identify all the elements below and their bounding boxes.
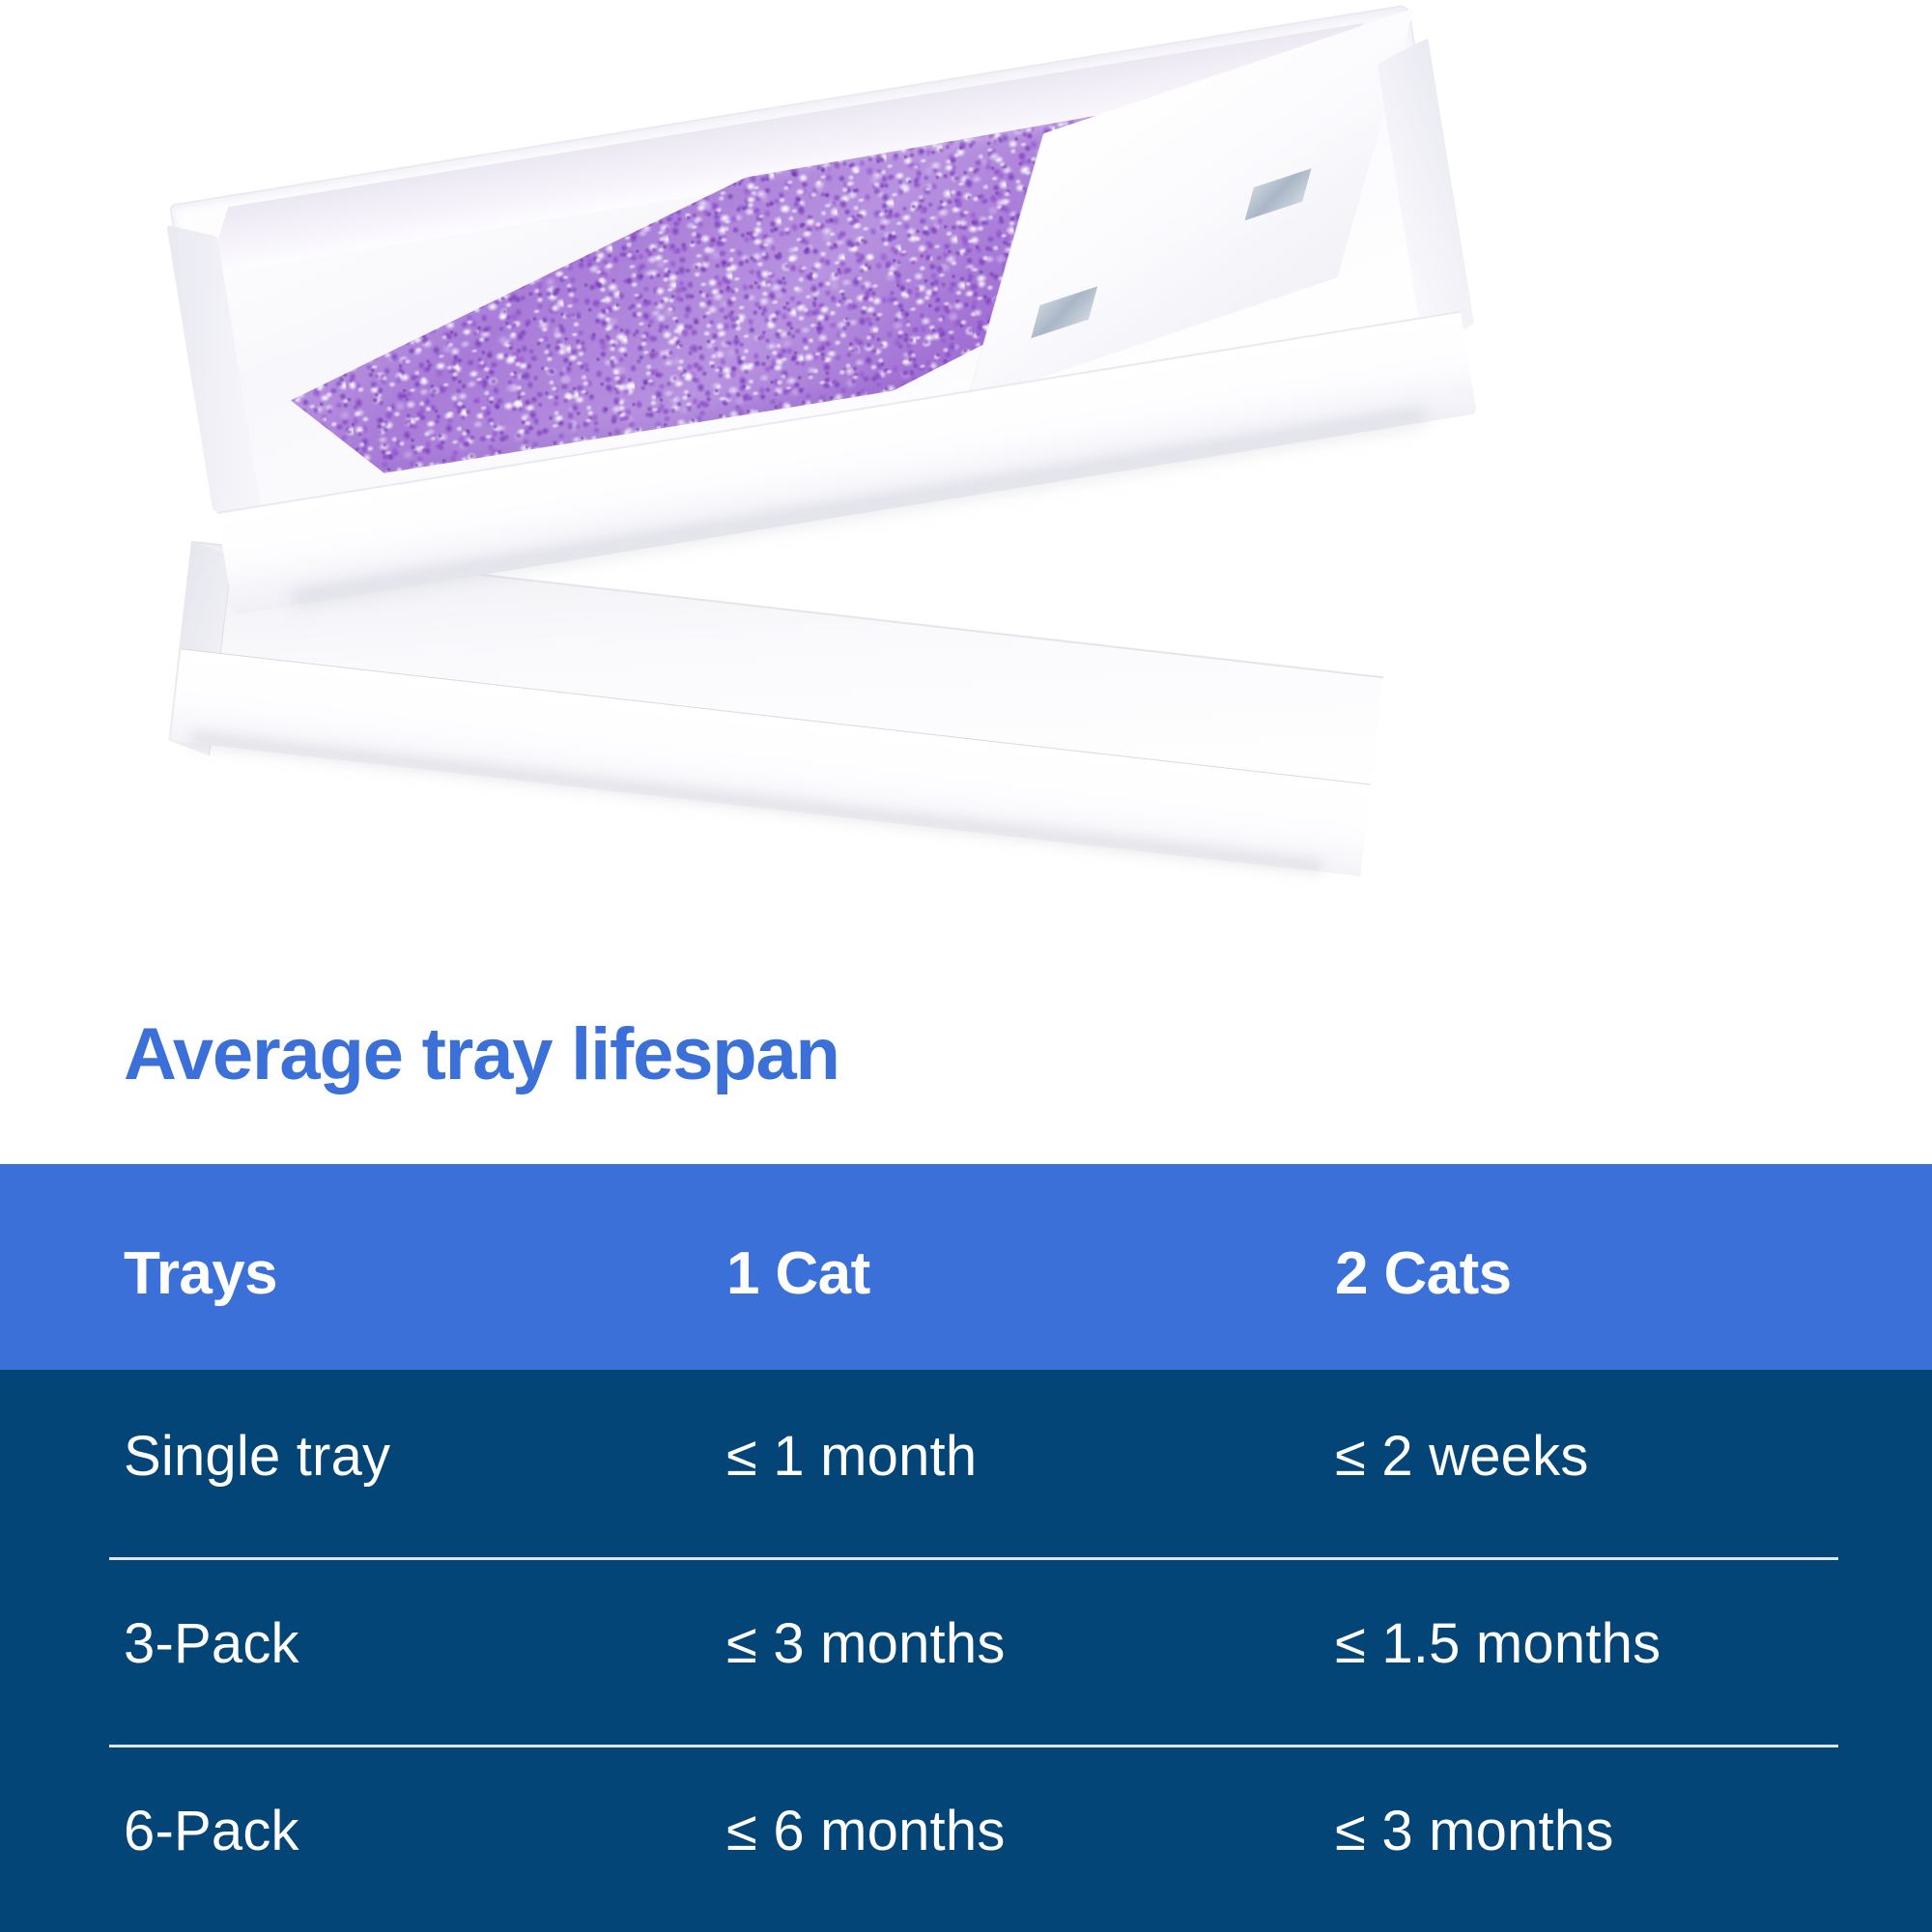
- cell-one-cat: ≤ 6 months: [726, 1799, 1006, 1863]
- row-divider: [109, 1557, 1838, 1560]
- column-header-1-cat: 1 Cat: [726, 1239, 870, 1308]
- table-body: Single tray ≤ 1 month ≤ 2 weeks 3-Pack ≤…: [0, 1370, 1932, 1932]
- cell-one-cat: ≤ 1 month: [726, 1424, 977, 1489]
- cell-two-cats: ≤ 3 months: [1335, 1799, 1614, 1863]
- table-row: Single tray ≤ 1 month ≤ 2 weeks: [0, 1370, 1932, 1557]
- table-header-row: Trays 1 Cat 2 Cats: [0, 1164, 1932, 1370]
- cell-tray-name: 3-Pack: [124, 1611, 299, 1676]
- table-row: 6-Pack ≤ 6 months ≤ 3 months: [0, 1745, 1932, 1932]
- column-header-trays: Trays: [124, 1239, 277, 1308]
- page-title: Average tray lifespan: [124, 1012, 839, 1096]
- top-filled-tray: [169, 4, 1475, 614]
- title-block: Average tray lifespan: [0, 966, 1932, 1164]
- table-row: 3-Pack ≤ 3 months ≤ 1.5 months: [0, 1557, 1932, 1745]
- cell-two-cats: ≤ 2 weeks: [1335, 1424, 1589, 1489]
- cell-one-cat: ≤ 3 months: [726, 1611, 1006, 1676]
- column-header-2-cats: 2 Cats: [1335, 1239, 1512, 1308]
- cell-two-cats: ≤ 1.5 months: [1335, 1611, 1661, 1676]
- row-divider: [109, 1745, 1838, 1747]
- lifespan-table: Trays 1 Cat 2 Cats Single tray ≤ 1 month…: [0, 1164, 1932, 1932]
- cell-tray-name: Single tray: [124, 1424, 390, 1489]
- cell-tray-name: 6-Pack: [124, 1799, 299, 1863]
